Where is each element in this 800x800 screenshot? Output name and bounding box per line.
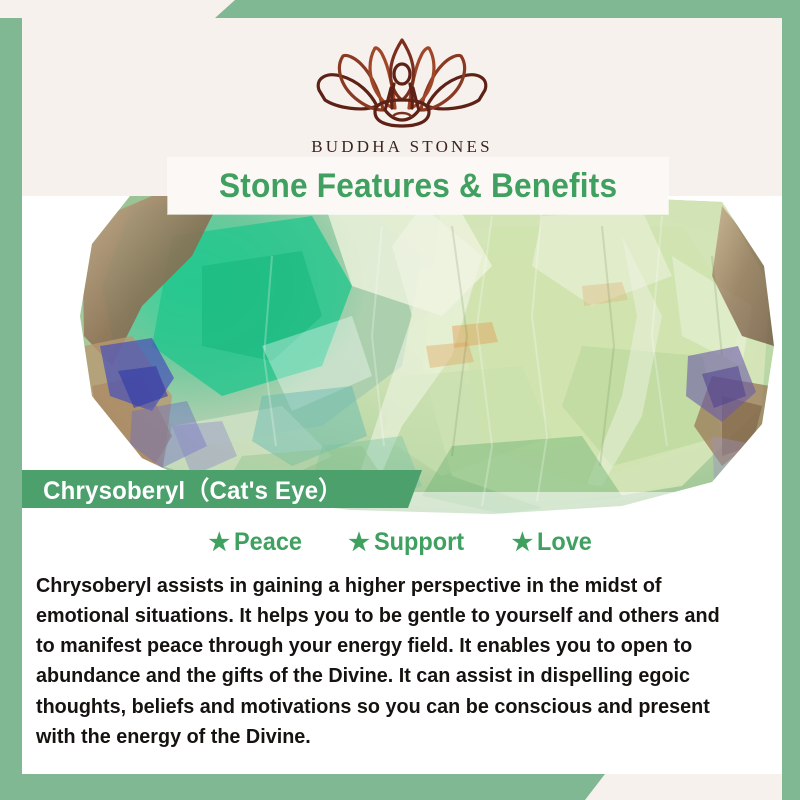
stone-description: Chrysoberyl assists in gaining a higher … [36,571,742,752]
stone-name-banner: Chrysoberyl（Cat's Eye） [22,470,422,508]
inner-panel: BUDDHA STONES [22,18,782,774]
page-title: Stone Features & Benefits [219,167,617,206]
star-icon: ★ [208,531,230,555]
benefits-and-description: ★ Peace ★ Support ★ Love Chrysoberyl ass… [22,514,782,774]
frame-right-band [782,0,800,800]
star-icon: ★ [512,531,534,555]
lotus-meditation-figure-icon [297,34,507,135]
frame-top-band [215,0,800,18]
benefit-item-support: ★ Support [348,528,469,557]
section-title-bar: Stone Features & Benefits [168,158,668,214]
stone-photo [22,196,782,514]
benefit-item-love: ★ Love [512,528,596,557]
frame-left-band [0,18,22,800]
benefit-label: Love [537,528,592,557]
benefit-label: Support [374,528,464,557]
star-icon: ★ [348,531,370,555]
stone-photo-image [22,196,782,514]
frame-bottom-band [0,774,605,800]
stone-name-label: Chrysoberyl（Cat's Eye） [22,471,343,507]
benefits-row: ★ Peace ★ Support ★ Love [22,514,782,557]
stone-info-poster: BUDDHA STONES [0,0,800,800]
brand-name: BUDDHA STONES [311,137,493,157]
benefit-item-peace: ★ Peace [208,528,306,557]
benefit-label: Peace [234,528,302,557]
